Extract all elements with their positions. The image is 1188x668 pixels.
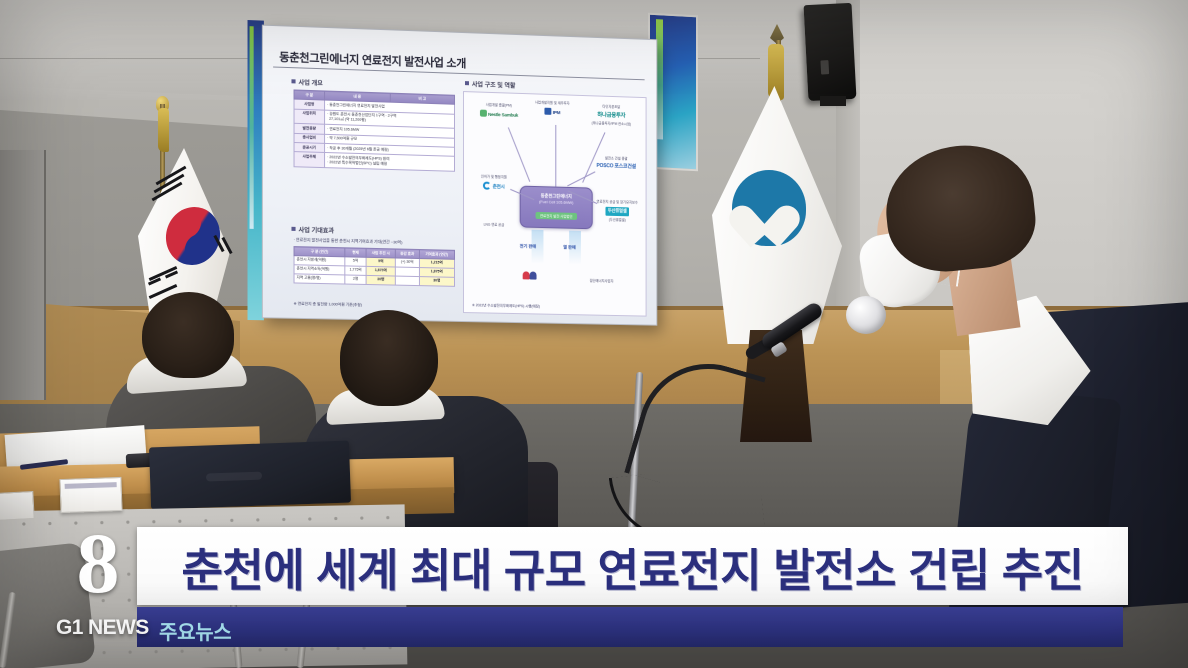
- bullet-square-icon: [291, 227, 295, 231]
- category-text: 주요뉴스: [159, 616, 231, 645]
- slide-section-overview: 사업 개요: [291, 77, 322, 87]
- wall-speaker-box: [804, 3, 857, 101]
- row-value: · 2022년 수소발전의무화제도(HPS) 참여· 2022년 특수목적법인(…: [325, 153, 455, 171]
- document-folder: [149, 441, 351, 510]
- cell-3: (+) 30억: [395, 258, 418, 268]
- diagram-node-nestle: 사업개발 총괄(PM) Nestle Sambuk: [472, 102, 526, 122]
- head: [142, 292, 234, 378]
- diagram-node-district-heating: 집단에너지사업자: [567, 278, 636, 285]
- cell-3: [395, 276, 418, 286]
- projection-screen: 동춘천그린에너지 연료전지 발전사업 소개 사업 개요 구 분 내 용 비 고 …: [262, 25, 657, 326]
- diagram-node-kogas: LNG 연료 공급: [468, 222, 520, 229]
- cell-0: 지역 고용(명/명): [294, 273, 345, 283]
- cell-1: 2명: [345, 275, 366, 285]
- slide-section-economics: 사업 기대효과: [291, 225, 334, 235]
- diagram-arrow: [555, 125, 556, 187]
- diagram-arrow: [567, 171, 595, 186]
- station-name: G1 NEWS: [56, 616, 152, 640]
- flow-label-heat: 열 판매: [563, 244, 576, 250]
- economics-table-body: 춘천시 지방세(억원)5억5억(+) 30억1,215억춘천시 지역소득(억원)…: [294, 255, 454, 286]
- name-placard: [59, 477, 122, 513]
- diagram-arrow: [508, 127, 530, 182]
- station-logo: 8 G1 NEWS: [56, 520, 148, 648]
- doosan-fuelcell-logo-icon: 두산퓨얼셀: [603, 206, 632, 218]
- broadcast-frame: 동춘천그린에너지 연료전지 발전사업 소개 사업 개요 구 분 내 용 비 고 …: [0, 0, 1188, 668]
- cell-2: 30명: [366, 275, 395, 285]
- diagram-center-node: 동춘천그린에너지 (Fuel Cell 105.6MW) 연료전지 발전 사업법…: [520, 186, 593, 230]
- speaker-bracket: [820, 96, 846, 106]
- bullet-square-icon: [291, 79, 295, 83]
- overview-table: 구 분 내 용 비 고 사업명· 동춘천그린에너지 연료전지 발전사업사업위치·…: [294, 89, 455, 171]
- economics-note: · 연료전지 발전사업을 통한 춘천시 지역기여효과 기대(연간 ~30억): [294, 237, 403, 246]
- flow-label-electricity: 전기 판매: [520, 243, 536, 249]
- cell-3: [395, 267, 418, 277]
- diagram-node-posco: 발전소 건설 총괄 POSCO 포스코건설: [589, 156, 644, 174]
- speaking-person: [864, 146, 1188, 546]
- category-bar: 주요뉴스: [137, 607, 1123, 647]
- chuncheon-city-logo-icon: 춘천시: [480, 180, 507, 193]
- business-structure-diagram: 사업개발 총괄(PM) Nestle Sambuk 사업개발지원 및 재무투자 …: [463, 91, 647, 317]
- cell-1: 1,775억: [345, 265, 366, 275]
- kepco-logo-icon: [520, 269, 540, 283]
- overview-table-body: 사업명· 동춘천그린에너지 연료전지 발전사업사업위치· 강원도 춘천시 동춘천…: [294, 99, 454, 171]
- slide-surface: 동춘천그린에너지 연료전지 발전사업 소개 사업 개요 구 분 내 용 비 고 …: [262, 25, 657, 326]
- nestle-logo-icon: Nestle Sambuk: [477, 108, 522, 121]
- row-label: 사업위치: [294, 109, 325, 125]
- channel-number: 8: [62, 520, 134, 616]
- name-placard-secondary: [0, 491, 35, 521]
- hair: [880, 139, 1040, 278]
- headline-banner: 춘천에 세계 최대 규모 연료전지 발전소 건립 추진: [137, 527, 1128, 605]
- placard-header-strip: [65, 482, 117, 489]
- diagram-node-hana: 타인자본조달 하나금융투자 (하나금융투자/IPM 컨소시엄): [581, 104, 642, 129]
- diagram-footer: ※ 2022년 수소발전의무화제도(HPS) 시행(예정): [472, 302, 540, 308]
- row-label: 사업주체: [294, 152, 325, 168]
- head: [340, 310, 438, 406]
- diagram-node-ipm: 사업개발지원 및 재무투자 IPM: [526, 100, 579, 119]
- center-node-capacity: (Fuel Cell 105.6MW): [521, 200, 592, 206]
- door: [0, 150, 46, 400]
- headline-text: 춘천에 세계 최대 규모 연료전지 발전소 건립 추진: [137, 527, 1128, 605]
- cell-1: 5억: [345, 256, 366, 266]
- ipm-logo-icon: IPM: [541, 107, 563, 120]
- diagram-node-kepco: [510, 269, 550, 284]
- city-heart-logo-icon: [732, 170, 806, 246]
- flag-tassel: [158, 108, 169, 152]
- slide-section-structure: 사업 구조 및 역할: [465, 79, 515, 90]
- economics-table: 구 분 (연간)현재사업 추진 시증감 효과기여효과 (연간) 춘천시 지방세(…: [294, 246, 455, 286]
- mic-windscreen-icon: [846, 296, 886, 334]
- cell-4: 30명: [419, 276, 455, 286]
- center-node-badge: 연료전지 발전 사업법인: [536, 212, 577, 220]
- bullet-square-icon: [465, 81, 469, 85]
- posco-logo-icon: POSCO 포스코건설: [594, 162, 639, 174]
